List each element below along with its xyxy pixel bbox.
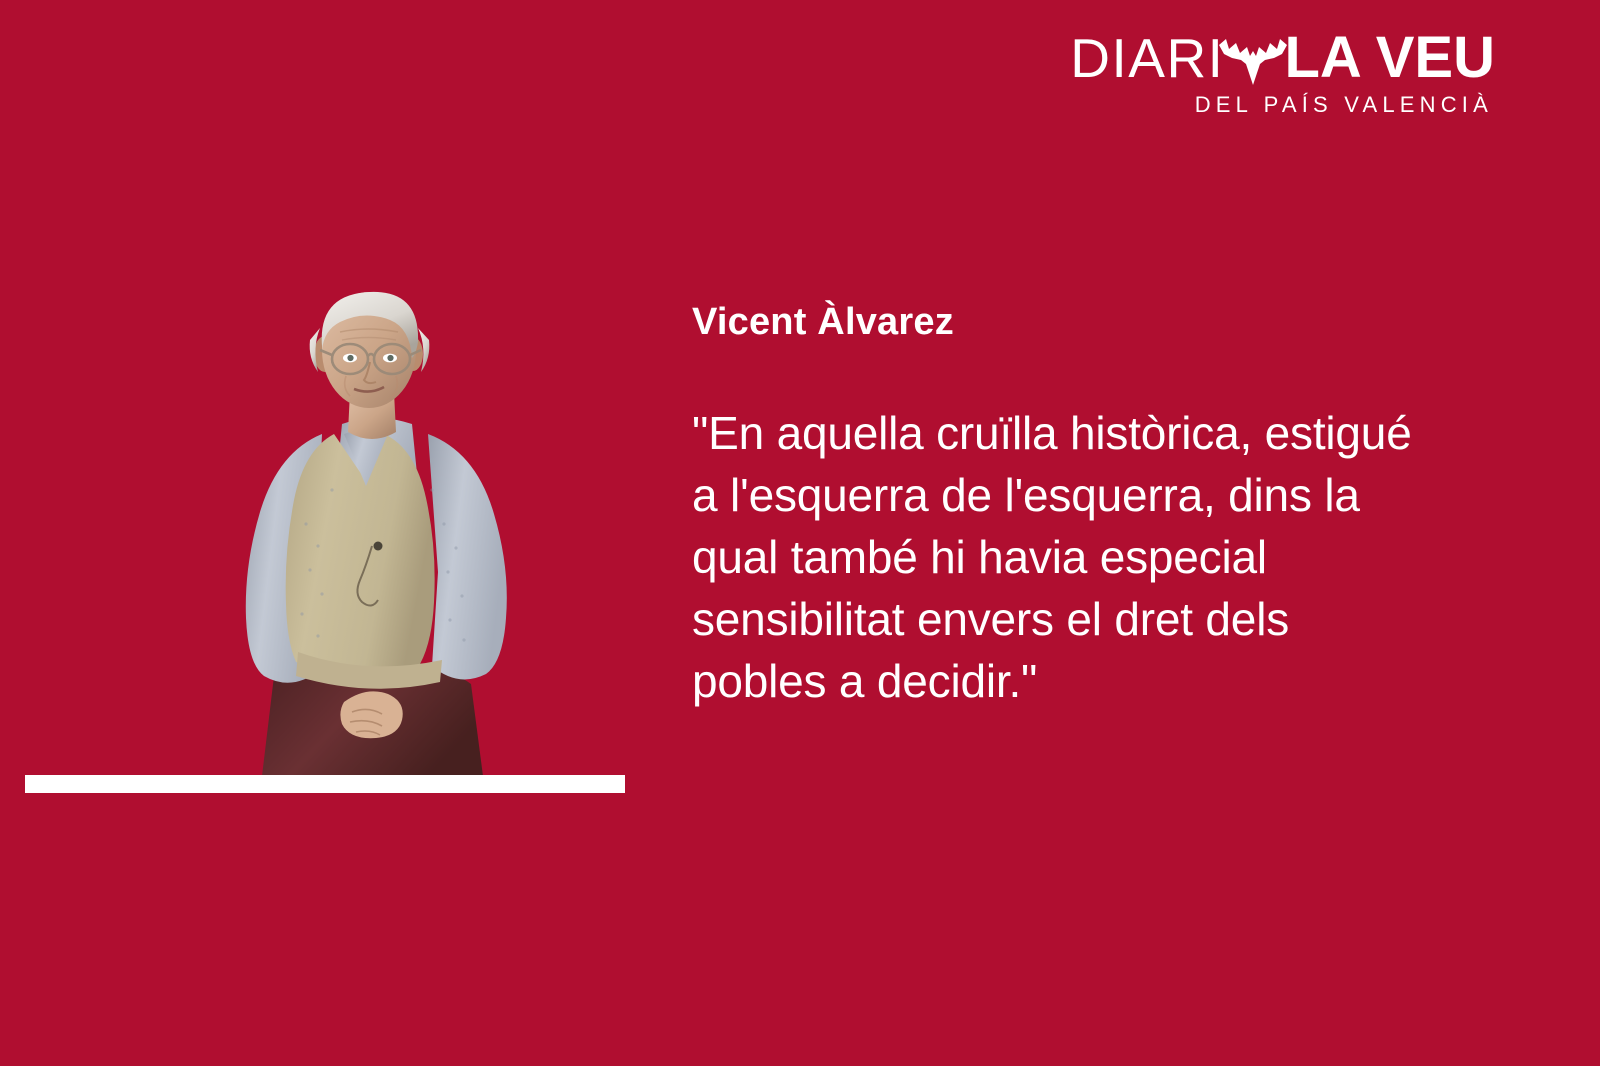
divider-rule xyxy=(25,775,625,793)
brand-tagline: DEL PAÍS VALENCIÀ xyxy=(1195,92,1493,118)
brand-word-laveu: LA VEU xyxy=(1284,29,1495,87)
brand-word-diari: DIARI xyxy=(1070,29,1224,87)
speaker-name: Vicent Àlvarez xyxy=(692,300,1462,344)
quote-text-block: Vicent Àlvarez "En aquella cruïlla histò… xyxy=(692,300,1462,712)
brand-logo-wordmark: DIARI LA VEU xyxy=(1070,28,1495,88)
brand-logo: DIARI LA VEU DEL PAÍS VALENCIÀ xyxy=(995,28,1495,120)
speaker-portrait xyxy=(222,284,528,776)
quote-body: "En aquella cruïlla històrica, estigué a… xyxy=(692,402,1432,712)
quote-card: DIARI LA VEU DEL PAÍS VALENCIÀ xyxy=(0,0,1600,1066)
bat-icon xyxy=(1216,33,1290,87)
